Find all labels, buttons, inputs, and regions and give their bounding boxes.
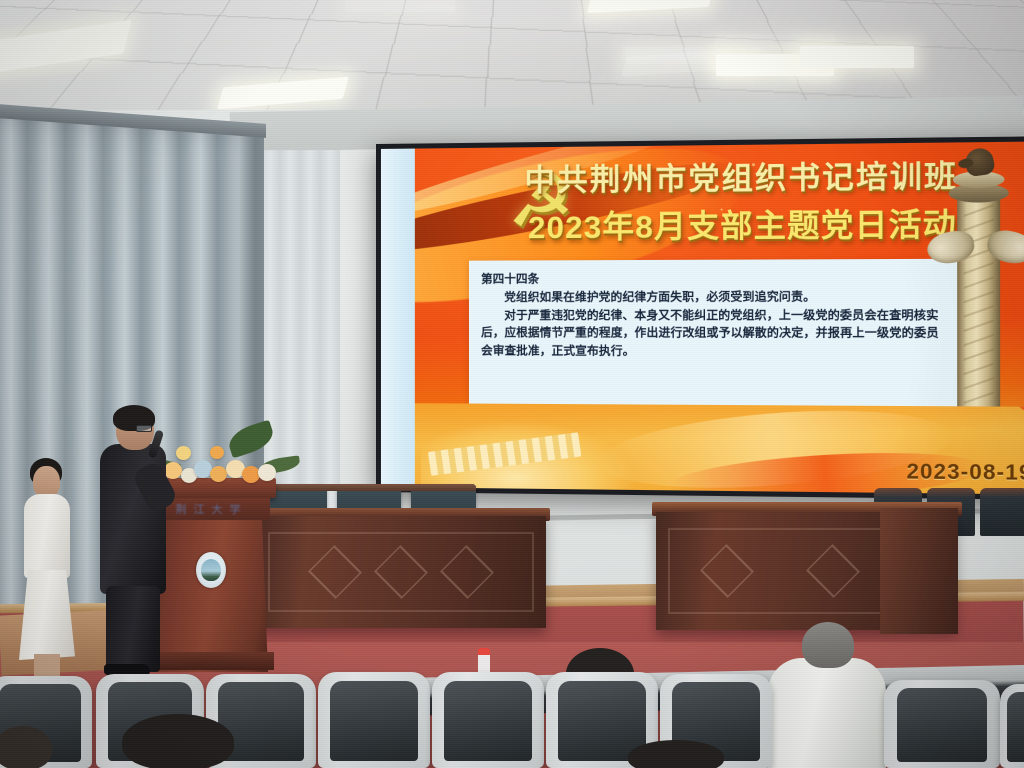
column-shaft bbox=[957, 190, 1000, 428]
slide-card-paragraph-2: 对于严重违犯党的纪律、本身又不能纠正的党组织，上一级党的委员会在查明核实后，应根… bbox=[481, 307, 946, 362]
flower-bloom bbox=[258, 464, 276, 481]
speaker-legs bbox=[106, 586, 160, 672]
podium-char: 荆 bbox=[176, 501, 187, 517]
podium-char: 江 bbox=[194, 501, 205, 517]
presentation-slide: ☭ 中共荆州市党组织书记培训班 2023年8月支部主题党日活动 第四十四条 党组… bbox=[415, 141, 1024, 494]
auditorium-seat bbox=[884, 680, 1000, 768]
stage-chair bbox=[980, 488, 1024, 536]
flower-bloom bbox=[210, 466, 227, 482]
auditorium-seat bbox=[318, 672, 430, 768]
audience-head bbox=[0, 726, 52, 768]
auditorium-seat bbox=[1000, 684, 1024, 768]
ceiling-light-panel bbox=[345, 0, 455, 12]
great-wall-icon: 2023-08-19 ★ bbox=[415, 403, 1024, 494]
photo-scene: ☭ 中共荆州市党组织书记培训班 2023年8月支部主题党日活动 第四十四条 党组… bbox=[0, 0, 1024, 768]
speaker-at-podium bbox=[100, 408, 172, 666]
audience-head bbox=[122, 714, 234, 768]
right-head-table-side bbox=[880, 508, 958, 634]
woman-torso bbox=[24, 494, 70, 578]
screen-left-band bbox=[381, 149, 415, 488]
glasses-icon bbox=[136, 425, 152, 432]
audience-head bbox=[628, 740, 724, 768]
flower-bloom bbox=[176, 446, 191, 460]
woman-skirt bbox=[19, 570, 75, 660]
attendee-torso bbox=[768, 658, 886, 768]
podium-char: 学 bbox=[230, 501, 241, 517]
flower-bloom bbox=[210, 446, 224, 459]
institution-crest bbox=[196, 552, 226, 588]
slide-card-paragraph-1: 党组织如果在维护党的纪律方面失职，必须受到追究问责。 bbox=[481, 289, 946, 307]
screen-display-area: ☭ 中共荆州市党组织书记培训班 2023年8月支部主题党日活动 第四十四条 党组… bbox=[381, 141, 1024, 494]
huabiao-column-icon bbox=[929, 146, 1024, 436]
slide-text-card: 第四十四条 党组织如果在维护党的纪律方面失职，必须受到追究问责。 对于严重违犯党… bbox=[469, 259, 959, 417]
projection-screen: ☭ 中共荆州市党组织书记培训班 2023年8月支部主题党日活动 第四十四条 党组… bbox=[376, 136, 1024, 500]
auditorium-seat bbox=[432, 672, 544, 768]
slide-card-heading: 第四十四条 bbox=[481, 269, 946, 287]
front-row-attendee-white-shirt bbox=[768, 622, 886, 768]
attendee-head bbox=[802, 622, 854, 668]
head-table bbox=[256, 516, 546, 628]
ceiling-light-panel bbox=[800, 46, 914, 68]
standing-woman bbox=[18, 458, 76, 676]
woman-legs bbox=[34, 654, 60, 678]
podium-char: 大 bbox=[212, 501, 223, 517]
slide-datestamp: 2023-08-19 bbox=[906, 460, 1024, 486]
